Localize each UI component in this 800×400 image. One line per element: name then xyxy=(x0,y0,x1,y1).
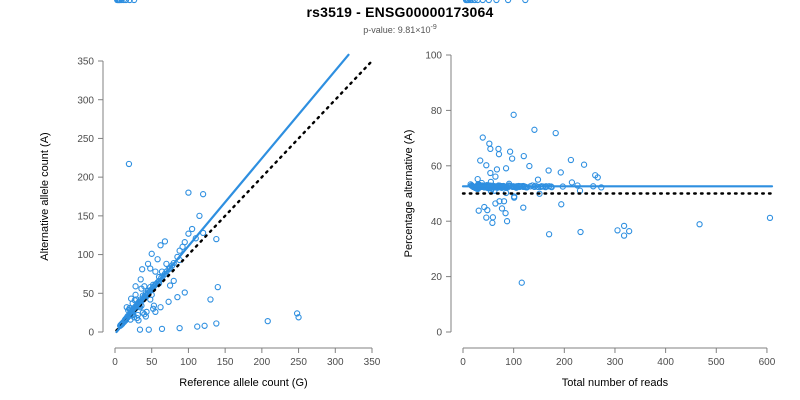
y-axis-title: Percentage alternative (A) xyxy=(403,130,415,258)
reference-line xyxy=(116,61,372,330)
data-point xyxy=(133,284,138,289)
x-axis-tick-label: 100 xyxy=(180,357,197,368)
x-axis-tick-label: 600 xyxy=(759,357,776,368)
data-points-group xyxy=(463,0,772,285)
data-point xyxy=(482,204,487,209)
x-axis-tick-label: 150 xyxy=(217,357,234,368)
data-point xyxy=(503,166,508,171)
data-point xyxy=(494,167,499,172)
y-axis-tick-label: 300 xyxy=(77,95,94,106)
data-point xyxy=(186,231,191,236)
y-axis-tick-label: 50 xyxy=(83,289,95,300)
data-point xyxy=(615,228,620,233)
y-axis-tick-label: 60 xyxy=(431,161,443,172)
data-point xyxy=(486,0,491,3)
y-axis-tick-label: 40 xyxy=(431,217,443,228)
data-point xyxy=(159,326,164,331)
x-axis-title: Reference allele count (G) xyxy=(179,377,307,389)
data-point xyxy=(535,177,540,182)
x-axis-tick-label: 0 xyxy=(460,357,466,368)
left-scatter-panel: 0501001502002503003500501001502002503003… xyxy=(0,0,400,400)
data-point xyxy=(158,243,163,248)
x-axis-tick-label: 200 xyxy=(556,357,573,368)
data-point xyxy=(190,226,195,231)
data-point xyxy=(553,131,558,136)
data-point xyxy=(202,323,207,328)
data-point xyxy=(164,261,169,266)
data-point xyxy=(201,192,206,197)
data-point xyxy=(149,251,154,256)
y-axis-tick-label: 200 xyxy=(77,173,94,184)
data-point xyxy=(547,232,552,237)
data-point xyxy=(496,152,501,157)
data-point xyxy=(493,174,498,179)
data-point xyxy=(182,290,187,295)
data-point xyxy=(197,213,202,218)
y-axis-tick-label: 80 xyxy=(431,106,443,117)
data-point xyxy=(155,257,160,262)
data-point xyxy=(182,240,187,245)
data-point xyxy=(581,162,586,167)
data-point xyxy=(511,112,516,117)
y-axis-tick-label: 350 xyxy=(77,57,94,68)
data-point xyxy=(505,0,510,3)
x-axis-tick-label: 50 xyxy=(146,357,158,368)
data-point xyxy=(546,168,551,173)
data-point xyxy=(195,324,200,329)
data-point xyxy=(621,223,626,228)
data-point xyxy=(487,141,492,146)
data-point xyxy=(569,180,574,185)
data-point xyxy=(214,321,219,326)
data-point xyxy=(532,127,537,132)
data-point xyxy=(171,278,176,283)
data-point xyxy=(138,277,143,282)
y-axis-tick-label: 0 xyxy=(436,328,442,339)
y-axis-tick-label: 20 xyxy=(431,272,443,283)
x-axis-tick-label: 350 xyxy=(364,357,381,368)
data-point xyxy=(146,327,151,332)
data-point xyxy=(158,305,163,310)
data-point xyxy=(484,163,489,168)
data-point xyxy=(480,135,485,140)
data-point xyxy=(508,149,513,154)
data-point xyxy=(488,170,493,175)
data-point xyxy=(214,236,219,241)
data-point xyxy=(621,233,626,238)
data-point xyxy=(521,205,526,210)
data-point xyxy=(166,299,171,304)
x-axis-tick-label: 500 xyxy=(708,357,725,368)
data-point xyxy=(568,157,573,162)
data-point xyxy=(559,202,564,207)
data-point xyxy=(140,267,145,272)
right-plot-canvas: 0204060801000100200300400500600Total num… xyxy=(400,0,800,400)
data-point xyxy=(208,297,213,302)
y-axis-tick-label: 100 xyxy=(425,51,442,62)
data-point xyxy=(767,215,772,220)
data-point xyxy=(578,229,583,234)
data-point xyxy=(503,211,508,216)
data-point xyxy=(510,156,515,161)
data-point xyxy=(527,163,532,168)
data-point xyxy=(186,190,191,195)
data-point xyxy=(480,0,485,3)
data-point xyxy=(215,284,220,289)
x-axis-tick-label: 300 xyxy=(327,357,344,368)
x-axis-title: Total number of reads xyxy=(562,377,669,389)
data-point xyxy=(627,229,632,234)
x-axis-tick-label: 200 xyxy=(254,357,271,368)
data-point xyxy=(126,161,131,166)
x-axis-tick-label: 400 xyxy=(657,357,674,368)
data-points-group xyxy=(115,0,302,332)
data-point xyxy=(499,206,504,211)
data-point xyxy=(137,327,142,332)
y-axis-tick-label: 250 xyxy=(77,134,94,145)
data-point xyxy=(521,154,526,159)
left-plot-canvas: 0501001502002503003500501001502002503003… xyxy=(0,0,400,400)
fit-line xyxy=(116,55,348,332)
data-point xyxy=(167,283,172,288)
data-point xyxy=(162,239,167,244)
data-point xyxy=(558,170,563,175)
data-point xyxy=(177,326,182,331)
data-point xyxy=(148,266,153,271)
y-axis-tick-label: 0 xyxy=(88,328,94,339)
data-point xyxy=(485,208,490,213)
data-point xyxy=(490,220,495,225)
data-point xyxy=(484,215,489,220)
y-axis-tick-label: 150 xyxy=(77,211,94,222)
x-axis-tick-label: 0 xyxy=(112,357,118,368)
data-point xyxy=(523,0,528,3)
data-point xyxy=(488,146,493,151)
data-point xyxy=(478,158,483,163)
data-point xyxy=(490,215,495,220)
data-point xyxy=(496,146,501,151)
figure-root: rs3519 - ENSG00000173064 p-value: 9.81×1… xyxy=(0,0,800,400)
right-scatter-panel: 0204060801000100200300400500600Total num… xyxy=(400,0,800,400)
data-point xyxy=(519,280,524,285)
data-point xyxy=(476,208,481,213)
data-point xyxy=(504,219,509,224)
data-point xyxy=(153,269,158,274)
x-axis-tick-label: 250 xyxy=(290,357,307,368)
data-point xyxy=(494,0,499,3)
y-axis-tick-label: 100 xyxy=(77,250,94,261)
x-axis-tick-label: 100 xyxy=(505,357,522,368)
y-axis-title: Alternative allele count (A) xyxy=(39,132,51,260)
data-point xyxy=(175,295,180,300)
data-point xyxy=(697,222,702,227)
data-point xyxy=(265,319,270,324)
x-axis-tick-label: 300 xyxy=(607,357,624,368)
